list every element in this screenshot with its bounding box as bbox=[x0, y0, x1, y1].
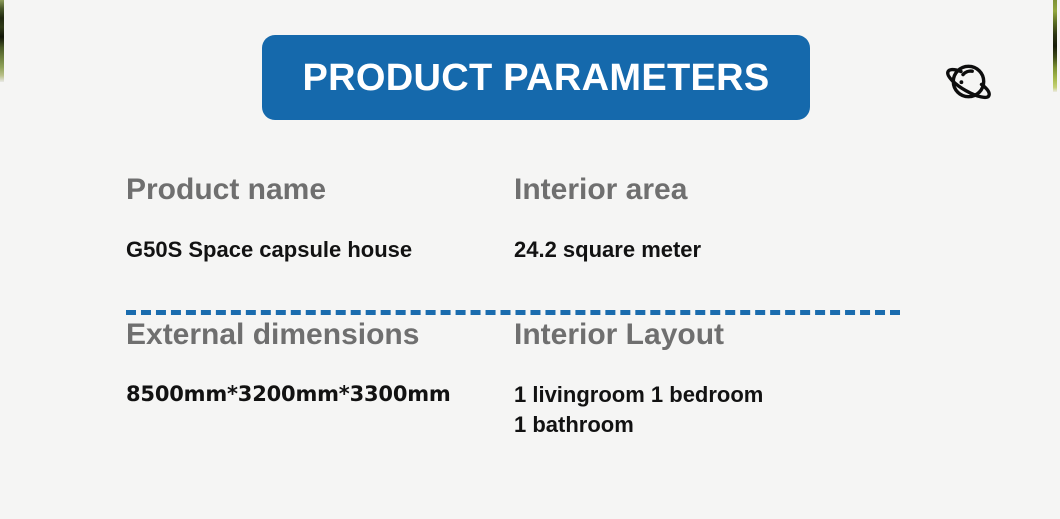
parameter-product-name: Product name G50S Space capsule house bbox=[0, 150, 494, 295]
parameter-value: G50S Space capsule house bbox=[126, 205, 494, 265]
parameter-value: 8500mm*3200mm*3300mm bbox=[126, 350, 494, 409]
planet-icon bbox=[941, 53, 997, 109]
parameter-row: External dimensions 8500mm*3200mm*3300mm… bbox=[0, 295, 1060, 475]
parameter-value: 24.2 square meter bbox=[514, 205, 1060, 265]
parameter-label: Interior Layout bbox=[514, 295, 1060, 350]
parameter-label: Interior area bbox=[514, 150, 1060, 205]
dashed-divider bbox=[126, 310, 900, 315]
product-parameters-card: PRODUCT PARAMETERS Product name G50S Spa… bbox=[0, 0, 1060, 519]
parameter-value: 1 livingroom 1 bedroom 1 bathroom bbox=[514, 350, 1060, 440]
parameter-interior-layout: Interior Layout 1 livingroom 1 bedroom 1… bbox=[494, 295, 1060, 475]
page-title: PRODUCT PARAMETERS bbox=[302, 59, 769, 97]
header: PRODUCT PARAMETERS bbox=[0, 0, 1060, 150]
parameter-row: Product name G50S Space capsule house In… bbox=[0, 150, 1060, 295]
title-badge: PRODUCT PARAMETERS bbox=[262, 35, 810, 120]
parameter-label: External dimensions bbox=[126, 295, 494, 350]
parameter-interior-area: Interior area 24.2 square meter bbox=[494, 150, 1060, 295]
parameter-external-dimensions: External dimensions 8500mm*3200mm*3300mm bbox=[0, 295, 494, 475]
parameter-label: Product name bbox=[126, 150, 494, 205]
